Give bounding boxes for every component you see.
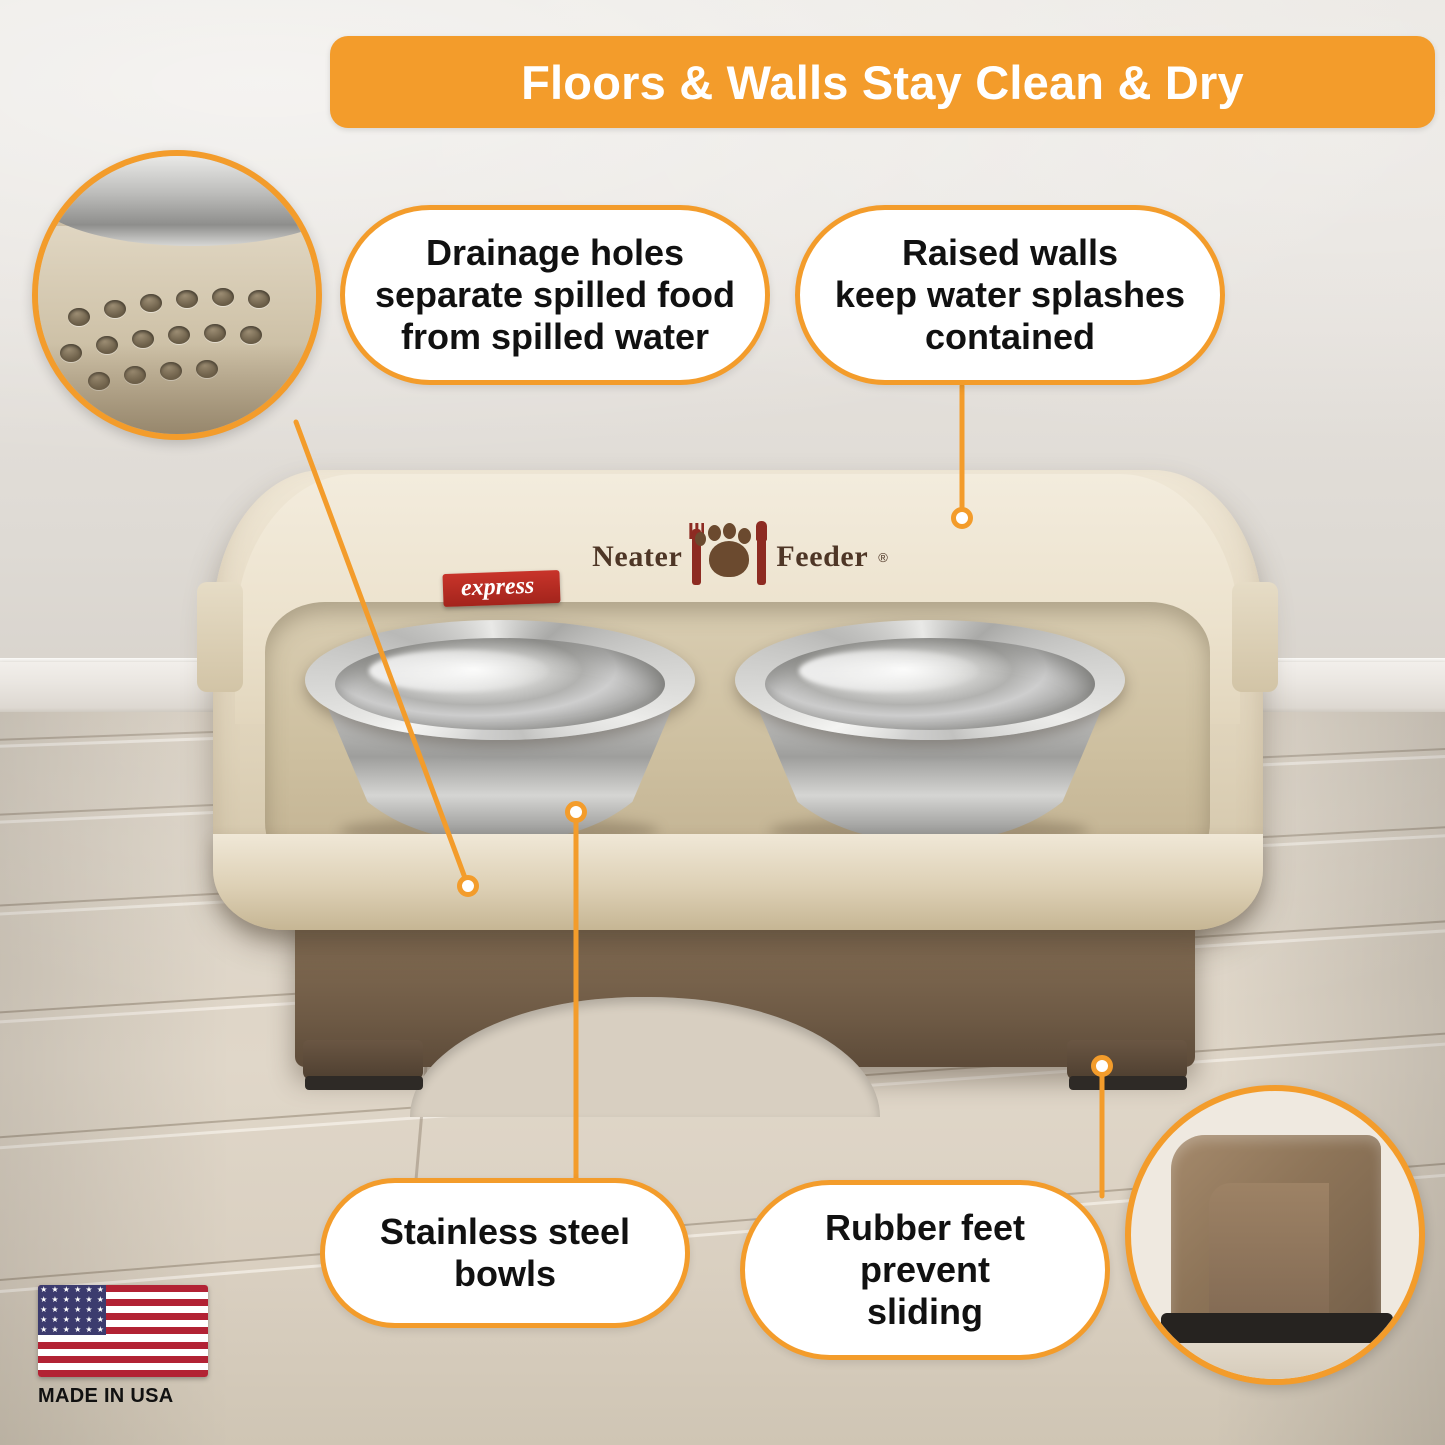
rubber-foot-pad-right bbox=[1069, 1076, 1187, 1090]
stainless-bowl-right bbox=[735, 620, 1125, 850]
anchor-dot-feet bbox=[1091, 1055, 1113, 1077]
brand-name-first: Neater bbox=[592, 540, 682, 574]
tray-side-ear-right bbox=[1232, 582, 1278, 692]
callout-drainage-holes: Drainage holes separate spilled food fro… bbox=[340, 205, 770, 385]
paw-print-icon bbox=[709, 541, 749, 577]
callout-rubber-feet: Rubber feet prevent sliding bbox=[740, 1180, 1110, 1360]
tray-front-lip bbox=[213, 834, 1263, 930]
anchor-dot-drainage bbox=[457, 875, 479, 897]
base-foot-left bbox=[303, 1040, 423, 1080]
neater-feeder-product: Neater Feeder ® express bbox=[195, 452, 1280, 1072]
feeder-tray: Neater Feeder ® express bbox=[195, 452, 1280, 942]
headline-banner: Floors & Walls Stay Clean & Dry bbox=[330, 36, 1435, 128]
rubber-foot-pad-left bbox=[305, 1076, 423, 1090]
registered-mark: ® bbox=[878, 550, 888, 565]
rubber-pad bbox=[1161, 1313, 1393, 1343]
base-foot-right bbox=[1067, 1040, 1187, 1080]
tray-side-ear-left bbox=[197, 582, 243, 692]
paw-fork-knife-icon bbox=[692, 525, 766, 589]
made-in-usa-badge: ★★★★★★ ★★★★★★ ★★★★★★ ★★★★★★ ★★★★★★ MADE … bbox=[38, 1285, 228, 1405]
callout-stainless-bowls: Stainless steel bowls bbox=[320, 1178, 690, 1328]
brand-logo: Neater Feeder ® bbox=[530, 512, 950, 602]
callout-raised-walls: Raised walls keep water splashes contain… bbox=[795, 205, 1225, 385]
brand-name-second: Feeder bbox=[776, 540, 868, 574]
anchor-dot-bowls bbox=[565, 801, 587, 823]
stainless-bowl-left bbox=[305, 620, 695, 850]
sub-brand-banner: express bbox=[442, 570, 560, 607]
anchor-dot-raised-walls bbox=[951, 507, 973, 529]
made-in-usa-label: MADE IN USA bbox=[38, 1385, 228, 1408]
drainage-detail-inset bbox=[32, 150, 322, 440]
infographic-canvas: Neater Feeder ® express bbox=[0, 0, 1445, 1445]
knife-icon bbox=[757, 529, 766, 585]
us-flag-icon: ★★★★★★ ★★★★★★ ★★★★★★ ★★★★★★ ★★★★★★ bbox=[38, 1285, 208, 1377]
rubber-foot-detail-inset bbox=[1125, 1085, 1425, 1385]
